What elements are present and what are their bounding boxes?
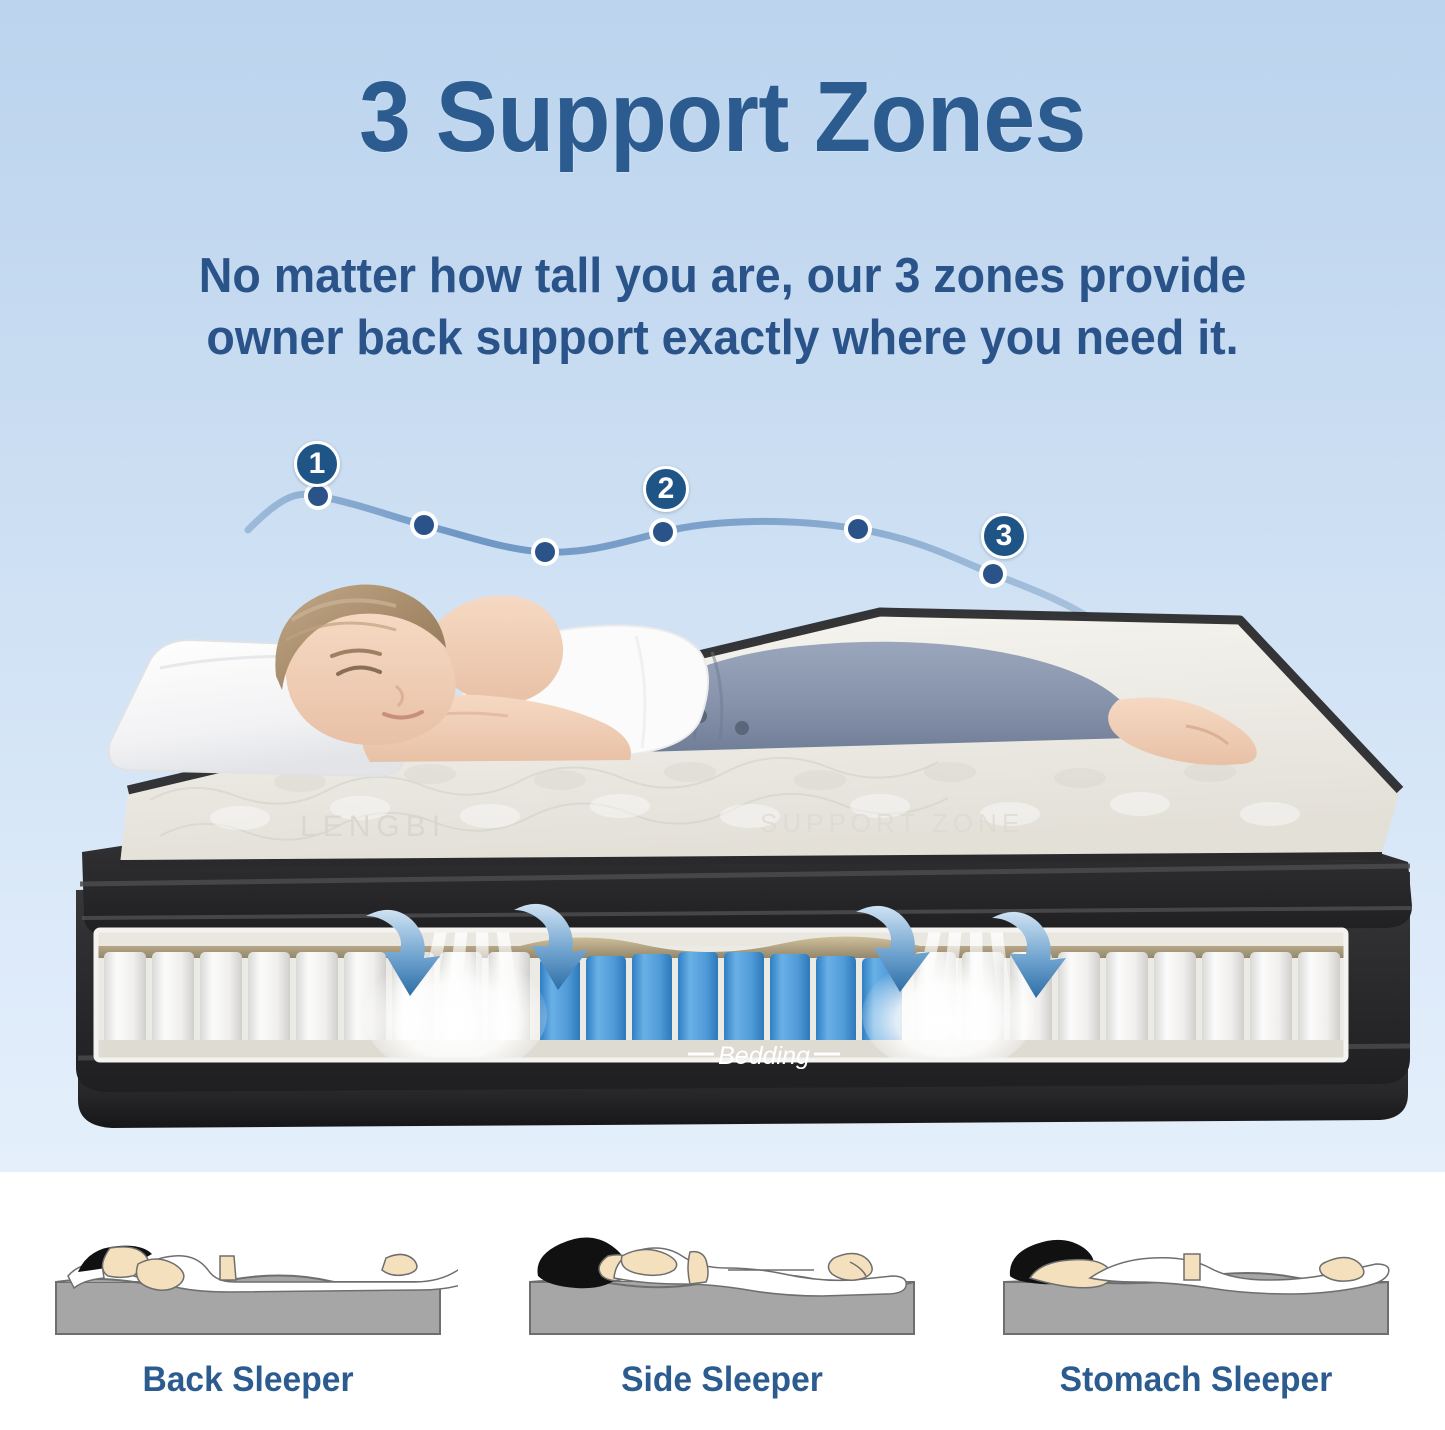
sleeper-types-section: Back Sleeper	[0, 1172, 1445, 1430]
side-sleeper-card: Side Sleeper	[512, 1230, 932, 1430]
side-sleeper-label: Side Sleeper	[520, 1360, 923, 1400]
svg-text:SUPPORT ZONE: SUPPORT ZONE	[760, 808, 1024, 838]
brand-label-text: Bedding	[718, 1042, 810, 1070]
stomach-sleeper-icon	[986, 1230, 1406, 1352]
back-sleeper-label: Back Sleeper	[46, 1360, 449, 1400]
stomach-sleeper-label: Stomach Sleeper	[994, 1360, 1397, 1400]
back-sleeper-card: Back Sleeper	[38, 1230, 458, 1430]
hero-section: 3 Support Zones No matter how tall you a…	[0, 0, 1445, 1172]
cover-emboss-text: LENGBI	[300, 810, 446, 843]
side-sleeper-icon	[512, 1230, 932, 1352]
stomach-sleeper-card: Stomach Sleeper	[986, 1230, 1406, 1430]
infographic-page: 3 Support Zones No matter how tall you a…	[0, 0, 1445, 1430]
mattress-illustration: LENGBI SUPPORT ZONE	[0, 0, 1445, 1172]
back-sleeper-icon	[38, 1230, 458, 1352]
